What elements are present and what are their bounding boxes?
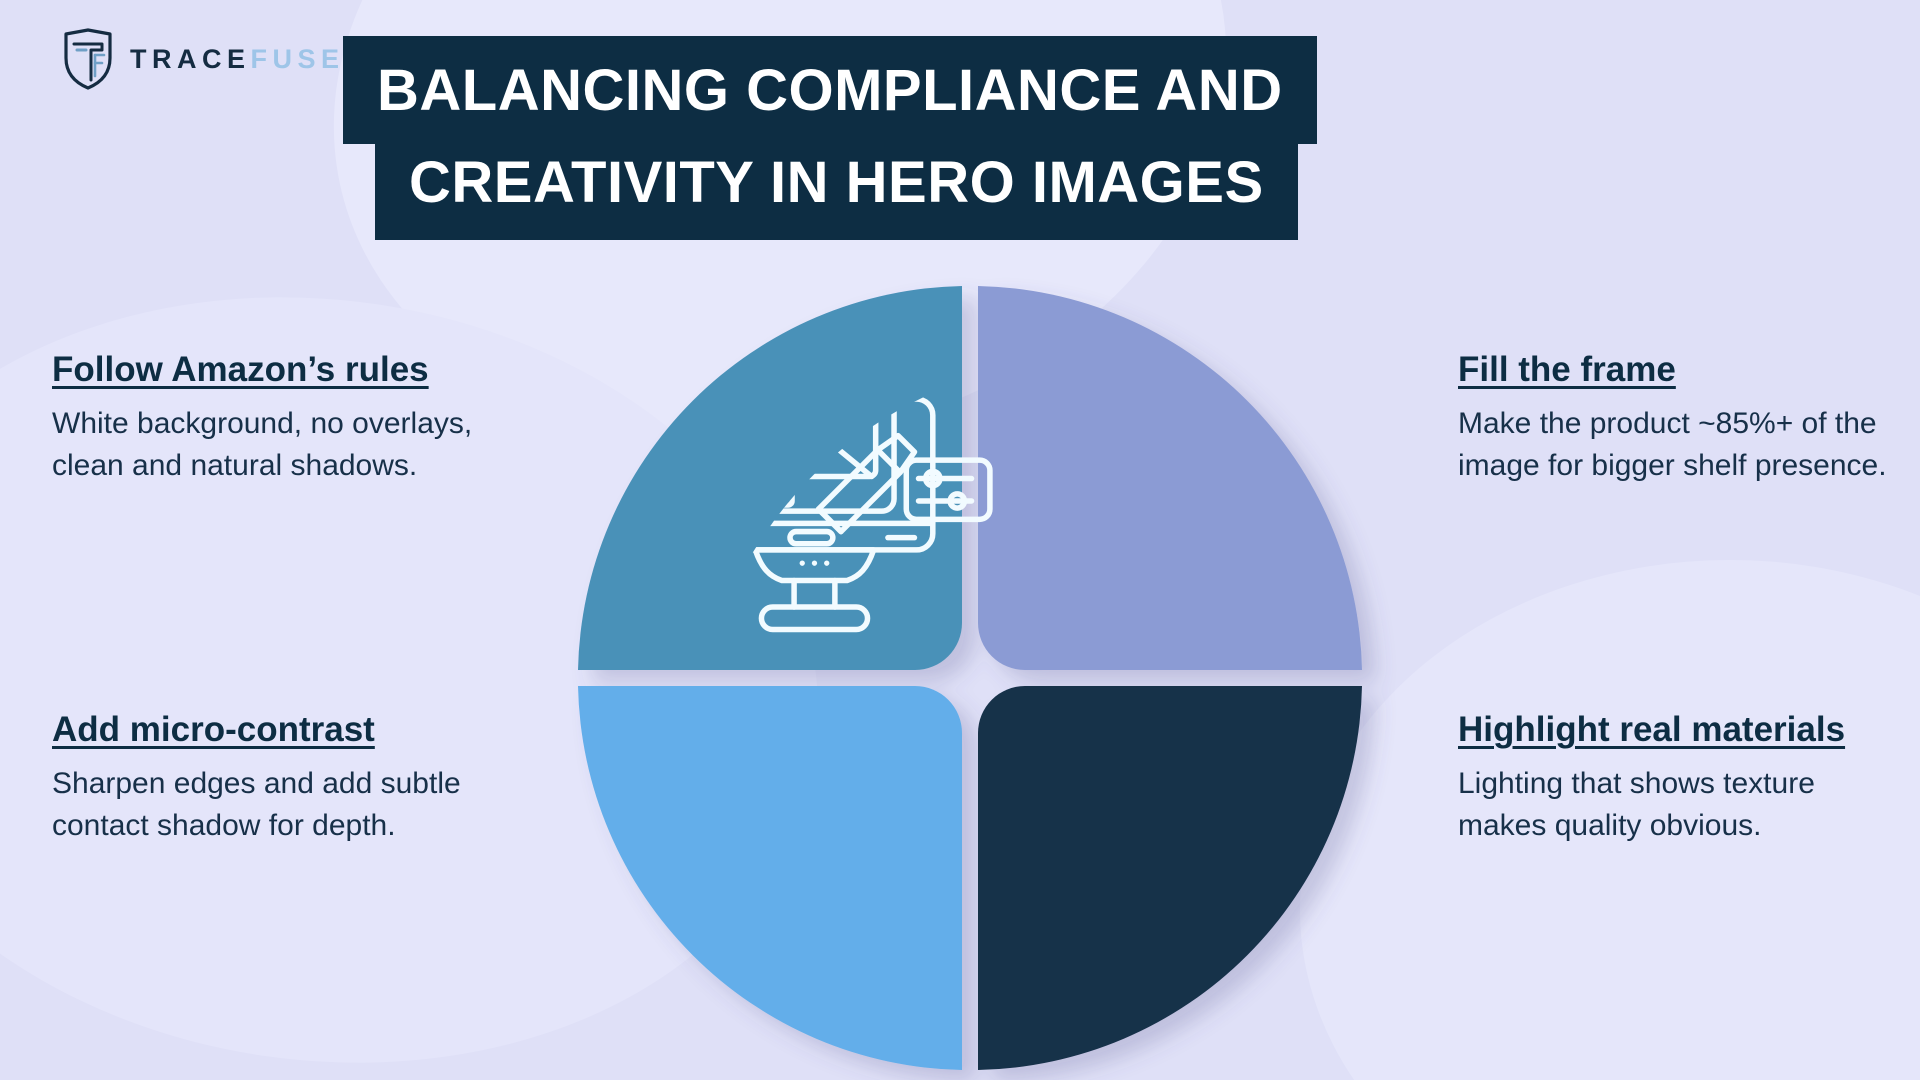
callout-bottom-right-body: Lighting that shows texture makes qualit… [1458, 763, 1888, 848]
callout-top-right-heading: Fill the frame [1458, 350, 1676, 389]
callout-bottom-right: Highlight real materials Lighting that s… [1458, 708, 1888, 848]
callout-top-left-heading: Follow Amazon’s rules [52, 350, 429, 389]
quadrant-bottom-left [578, 686, 962, 1070]
quadrant-top-right [978, 286, 1362, 670]
callout-bottom-left-body: Sharpen edges and add subtle contact sha… [52, 763, 482, 848]
quadrant-diagram [570, 278, 1370, 1078]
callout-heading-wrap: Add micro-contrast [52, 708, 482, 753]
callout-bottom-right-heading: Highlight real materials [1458, 710, 1845, 749]
title-line-1: BALANCING COMPLIANCE AND [343, 36, 1317, 144]
quadrant-bottom-right [978, 686, 1362, 1070]
callout-heading-wrap: Fill the frame [1458, 348, 1898, 393]
callout-top-right-body: Make the product ~85%+ of the image for … [1458, 403, 1898, 488]
callout-bottom-left: Add micro-contrast Sharpen edges and add… [52, 708, 482, 848]
title-line-2: CREATIVITY IN HERO IMAGES [375, 144, 1298, 240]
infographic-canvas: TRACEFUSE BALANCING COMPLIANCE AND CREAT… [0, 0, 1920, 1080]
callout-top-left-body: White background, no overlays, clean and… [52, 403, 492, 488]
callout-heading-wrap: Follow Amazon’s rules [52, 348, 492, 393]
callout-heading-wrap: Highlight real materials [1458, 708, 1888, 753]
callout-top-right: Fill the frame Make the product ~85%+ of… [1458, 348, 1898, 488]
callout-bottom-left-heading: Add micro-contrast [52, 710, 375, 749]
page-title: BALANCING COMPLIANCE AND CREATIVITY IN H… [0, 36, 1920, 240]
callout-top-left: Follow Amazon’s rules White background, … [52, 348, 492, 488]
